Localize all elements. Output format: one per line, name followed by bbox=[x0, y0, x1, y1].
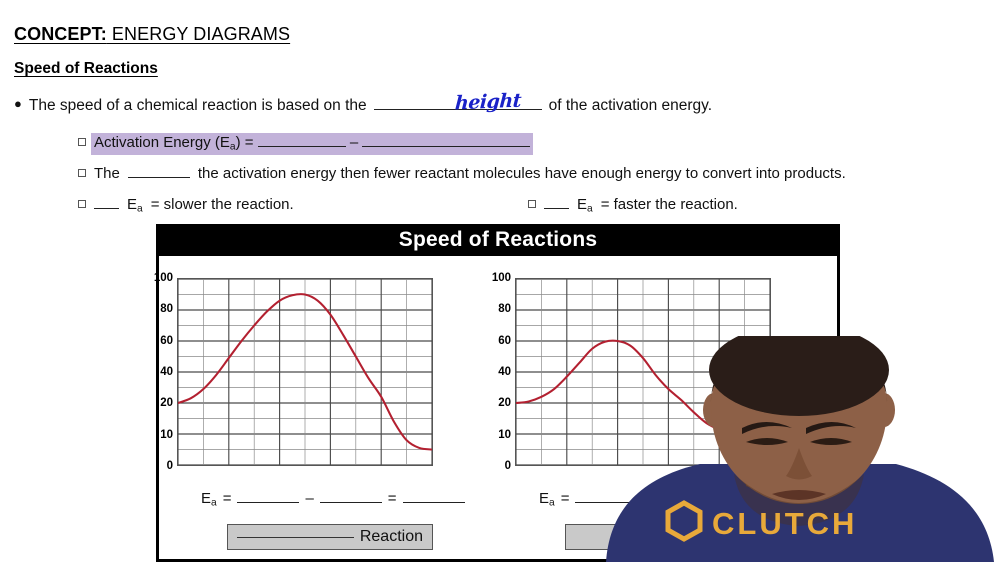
sub-c-text: = slower the reaction. bbox=[151, 196, 294, 213]
chart-left-svg bbox=[178, 279, 432, 465]
presenter-ear-right bbox=[873, 393, 895, 427]
eq-left-minus: – bbox=[305, 490, 313, 507]
sub-bullet-slower: Ea = slower the reaction. bbox=[78, 196, 294, 215]
sub-d-text: = faster the reaction. bbox=[601, 196, 738, 213]
handwritten-answer: height bbox=[454, 90, 521, 115]
fill-blank-left-3[interactable] bbox=[403, 502, 465, 503]
sub-bullet-faster: Ea = faster the reaction. bbox=[528, 196, 738, 215]
fill-blank-higher[interactable] bbox=[128, 177, 190, 178]
speed-of-reactions-panel: Speed of Reactions 01020406080100 010204… bbox=[156, 224, 840, 562]
eq-right-symbol: Ea bbox=[539, 490, 555, 509]
main-bullet-text-post: of the activation energy. bbox=[549, 97, 712, 115]
ae-label-post: ) = bbox=[236, 134, 254, 151]
eq-left-op2: = bbox=[388, 490, 397, 507]
square-bullet-icon bbox=[78, 138, 86, 146]
sub-bullet-activation-energy: Activation Energy (Ea) = – bbox=[78, 133, 533, 155]
reaction-tag-left-label: Reaction bbox=[360, 528, 423, 546]
chart-left-plot bbox=[177, 278, 433, 466]
ae-separator: – bbox=[350, 134, 358, 151]
slide-root: CONCEPT: ENERGY DIAGRAMS Speed of Reacti… bbox=[0, 0, 1000, 562]
sub-bullet-the-blank: The the activation energy then fewer rea… bbox=[78, 165, 846, 182]
chart-right-svg bbox=[516, 279, 770, 465]
chart-right-ytick: 20 bbox=[498, 397, 511, 409]
chart-left-ytick: 0 bbox=[167, 460, 173, 472]
chart-right-plot bbox=[515, 278, 771, 466]
chart-right-ytick: 60 bbox=[498, 335, 511, 347]
section-subheading: Speed of Reactions bbox=[14, 60, 158, 78]
chart-left: 01020406080100 bbox=[177, 278, 433, 466]
square-bullet-icon bbox=[78, 200, 86, 208]
concept-topic: ENERGY DIAGRAMS bbox=[107, 24, 290, 44]
chart-left-ytick: 20 bbox=[160, 397, 173, 409]
sub-c-symbol: Ea bbox=[127, 196, 143, 215]
bullet-dot-icon: ● bbox=[14, 97, 22, 110]
eq-right-op1: = bbox=[561, 490, 570, 507]
main-bullet: ● The speed of a chemical reaction is ba… bbox=[14, 97, 712, 115]
equation-left: Ea = – = bbox=[201, 490, 465, 509]
chart-left-y-axis: 01020406080100 bbox=[143, 278, 173, 466]
chart-left-grid bbox=[178, 279, 432, 465]
chart-right-ytick: 40 bbox=[498, 366, 511, 378]
chart-right-ytick: 0 bbox=[505, 460, 511, 472]
chart-right-ytick: 80 bbox=[498, 303, 511, 315]
fill-blank-right-2[interactable] bbox=[643, 502, 705, 503]
fill-blank-left-1[interactable] bbox=[237, 502, 299, 503]
fill-blank-slower[interactable] bbox=[94, 208, 119, 209]
square-bullet-icon bbox=[78, 169, 86, 177]
reaction-tag-left[interactable]: Reaction bbox=[227, 524, 433, 550]
chart-left-ytick: 10 bbox=[160, 429, 173, 441]
ae-label-pre: Activation Energy (E bbox=[94, 134, 230, 151]
chart-right-ytick: 10 bbox=[498, 429, 511, 441]
fill-blank-tag-right[interactable] bbox=[625, 537, 755, 538]
sub-d-symbol: Ea bbox=[577, 196, 593, 215]
chart-right: 01020406080100 bbox=[515, 278, 771, 466]
panel-title: Speed of Reactions bbox=[159, 224, 837, 256]
sub-b-text-post: the activation energy then fewer reactan… bbox=[198, 165, 846, 182]
chart-left-ytick: 40 bbox=[160, 366, 173, 378]
activation-energy-highlight: Activation Energy (Ea) = – bbox=[91, 133, 533, 155]
concept-label: CONCEPT: bbox=[14, 24, 107, 44]
chart-left-ytick: 60 bbox=[160, 335, 173, 347]
panel-body: 01020406080100 01020406080100 bbox=[159, 256, 837, 562]
fill-blank-left-2[interactable] bbox=[320, 502, 382, 503]
eq-left-symbol: Ea bbox=[201, 490, 217, 509]
chart-left-ytick: 80 bbox=[160, 303, 173, 315]
chart-right-ytick: 100 bbox=[492, 272, 511, 284]
chart-right-grid bbox=[516, 279, 770, 465]
sub-b-text-pre: The bbox=[94, 165, 120, 182]
fill-blank-tag-left[interactable] bbox=[237, 537, 354, 538]
reaction-tag-right[interactable] bbox=[565, 524, 771, 550]
eq-left-op1: = bbox=[223, 490, 232, 507]
main-bullet-text-pre: The speed of a chemical reaction is base… bbox=[29, 97, 367, 115]
concept-heading: CONCEPT: ENERGY DIAGRAMS bbox=[14, 24, 290, 45]
fill-blank-faster[interactable] bbox=[544, 208, 569, 209]
chart-left-ytick: 100 bbox=[154, 272, 173, 284]
chart-right-y-axis: 01020406080100 bbox=[481, 278, 511, 466]
equation-right: Ea = bbox=[539, 490, 705, 509]
fill-blank-ae-1[interactable] bbox=[258, 146, 346, 147]
square-bullet-icon bbox=[528, 200, 536, 208]
fill-blank-ae-2[interactable] bbox=[362, 146, 530, 147]
fill-blank-right-1[interactable] bbox=[575, 502, 637, 503]
